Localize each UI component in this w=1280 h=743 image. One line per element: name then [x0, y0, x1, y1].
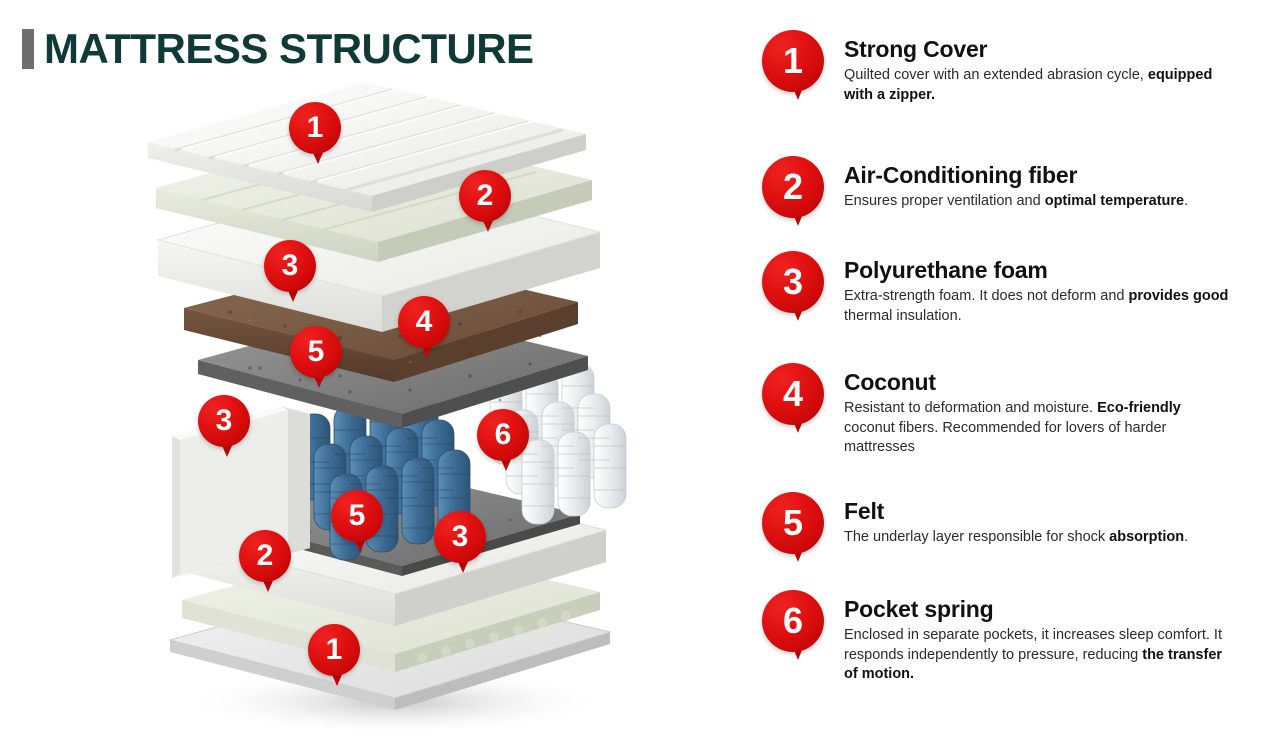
- callout-pin-number: 2: [239, 530, 291, 582]
- legend-pin-number: 2: [762, 156, 824, 218]
- legend-item-description: Resistant to deformation and moisture. E…: [844, 399, 1229, 457]
- legend-item-title: Pocket spring: [844, 596, 1229, 622]
- callout-pin-number: 5: [331, 490, 383, 542]
- title-accent-bar: [22, 29, 34, 69]
- mattress-illustration: 12345365321: [110, 80, 670, 740]
- legend-text-block: Air-Conditioning fiberEnsures proper ven…: [844, 156, 1188, 212]
- callout-pin-number: 1: [289, 102, 341, 154]
- legend-item-description: Enclosed in separate pockets, it increas…: [844, 626, 1229, 684]
- legend-pin-2: 2: [762, 156, 824, 228]
- legend-pin-1: 1: [762, 30, 824, 102]
- legend-pin-3: 3: [762, 251, 824, 323]
- legend-item-title: Strong Cover: [844, 36, 1229, 62]
- legend-item-2[interactable]: 2Air-Conditioning fiberEnsures proper ve…: [762, 156, 1188, 228]
- title-text: MATTRESS STRUCTURE: [44, 28, 534, 70]
- callout-pin-number: 3: [264, 240, 316, 292]
- legend-item-title: Polyurethane foam: [844, 257, 1229, 283]
- legend-pin-6: 6: [762, 590, 824, 662]
- legend-item-title: Coconut: [844, 369, 1229, 395]
- legend-item-4[interactable]: 4CoconutResistant to deformation and moi…: [762, 363, 1229, 457]
- legend-item-title: Felt: [844, 498, 1188, 524]
- legend-text-block: Strong CoverQuilted cover with an extend…: [844, 30, 1229, 105]
- legend-item-5[interactable]: 5FeltThe underlay layer responsible for …: [762, 492, 1188, 564]
- callout-pin-number: 3: [434, 511, 486, 563]
- callout-pin-number: 5: [290, 326, 342, 378]
- callout-pin-number: 2: [459, 170, 511, 222]
- legend-item-title: Air-Conditioning fiber: [844, 162, 1188, 188]
- callout-pin-number: 1: [308, 624, 360, 676]
- legend-pin-number: 4: [762, 363, 824, 425]
- callout-pin-number: 3: [198, 395, 250, 447]
- legend-item-description: Extra-strength foam. It does not deform …: [844, 287, 1229, 326]
- infographic-page: MATTRESS STRUCTURE: [0, 0, 1280, 743]
- legend-item-description: The underlay layer responsible for shock…: [844, 528, 1188, 547]
- legend-item-6[interactable]: 6Pocket springEnclosed in separate pocke…: [762, 590, 1229, 684]
- legend-pin-number: 1: [762, 30, 824, 92]
- callout-pin-number: 4: [398, 296, 450, 348]
- legend-item-description: Ensures proper ventilation and optimal t…: [844, 192, 1188, 211]
- legend-text-block: FeltThe underlay layer responsible for s…: [844, 492, 1188, 548]
- legend-text-block: Polyurethane foamExtra-strength foam. It…: [844, 251, 1229, 326]
- legend-item-3[interactable]: 3Polyurethane foamExtra-strength foam. I…: [762, 251, 1229, 326]
- legend-pin-5: 5: [762, 492, 824, 564]
- legend-pin-number: 6: [762, 590, 824, 652]
- legend-item-description: Quilted cover with an extended abrasion …: [844, 66, 1229, 105]
- callout-pin-number: 6: [477, 409, 529, 461]
- legend-item-1[interactable]: 1Strong CoverQuilted cover with an exten…: [762, 30, 1229, 105]
- legend-pin-4: 4: [762, 363, 824, 435]
- legend-pin-number: 5: [762, 492, 824, 554]
- legend-pin-number: 3: [762, 251, 824, 313]
- legend-text-block: Pocket springEnclosed in separate pocket…: [844, 590, 1229, 684]
- page-title: MATTRESS STRUCTURE: [22, 28, 534, 70]
- legend-text-block: CoconutResistant to deformation and mois…: [844, 363, 1229, 457]
